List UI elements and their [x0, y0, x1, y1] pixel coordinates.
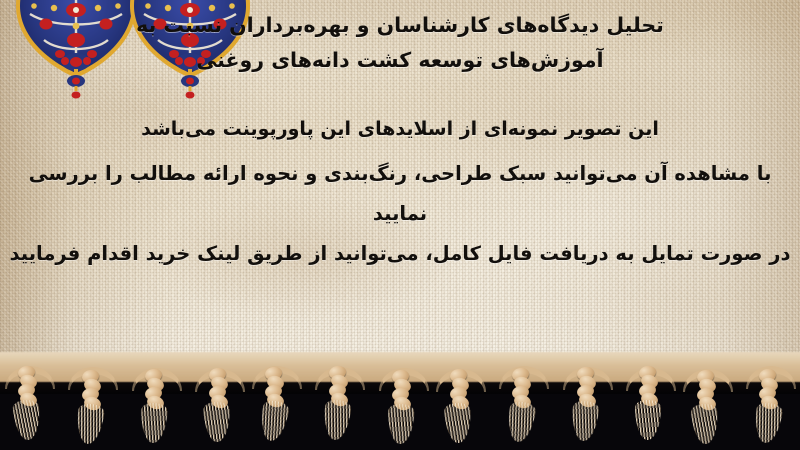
tassel-strands	[753, 402, 784, 445]
body-line-1: این تصویر نمونه‌ای از اسلایدهای این پاور…	[0, 112, 800, 146]
body-line-3: در صورت تمایل به دریافت فایل کامل، می‌تو…	[0, 234, 800, 274]
slide-title-line-2: آموزش‌های توسعه کشت دانه‌های روغنی	[0, 43, 800, 78]
slide-body: این تصویر نمونه‌ای از اسلایدهای این پاور…	[0, 112, 800, 274]
tassel-strands	[388, 404, 415, 444]
tassel-strands	[140, 403, 167, 444]
tassel-strands	[323, 399, 352, 441]
fringe-tassel	[632, 366, 666, 444]
tassel-strands	[204, 402, 231, 443]
tassel-strands	[635, 400, 661, 440]
tassel-strands	[444, 402, 472, 443]
slide-title: تحلیل دیدگاه‌های کارشناسان و بهره‌بردارا…	[0, 8, 800, 78]
fringe-tassel	[505, 368, 539, 446]
fringe-tassel	[442, 369, 476, 447]
fringe-tassel	[689, 370, 723, 448]
slide-title-line-1: تحلیل دیدگاه‌های کارشناسان و بهره‌بردارا…	[0, 8, 800, 43]
fringe-tassel	[752, 369, 786, 447]
tassel-strands	[505, 400, 536, 443]
body-line-2: با مشاهده آن می‌توانید سبک طراحی، رنگ‌بن…	[0, 154, 800, 234]
slide-canvas: تحلیل دیدگاه‌های کارشناسان و بهره‌بردارا…	[0, 0, 800, 450]
body-spacer	[0, 146, 800, 154]
fringe-tassel	[11, 366, 45, 444]
tassel-strands	[690, 403, 719, 445]
tassel-strands	[75, 403, 105, 445]
tassel-strands	[12, 399, 41, 441]
fringe-tassel	[385, 370, 419, 448]
tassel-strands	[570, 400, 599, 442]
fringe-tassel	[569, 367, 603, 445]
fringe-tassel	[321, 366, 355, 444]
fringe-tassel	[258, 367, 292, 445]
fringe-tassel	[201, 368, 235, 446]
tassel-strands	[258, 399, 290, 443]
fringe-tassel	[74, 370, 108, 448]
fringe-tassel	[138, 369, 172, 447]
